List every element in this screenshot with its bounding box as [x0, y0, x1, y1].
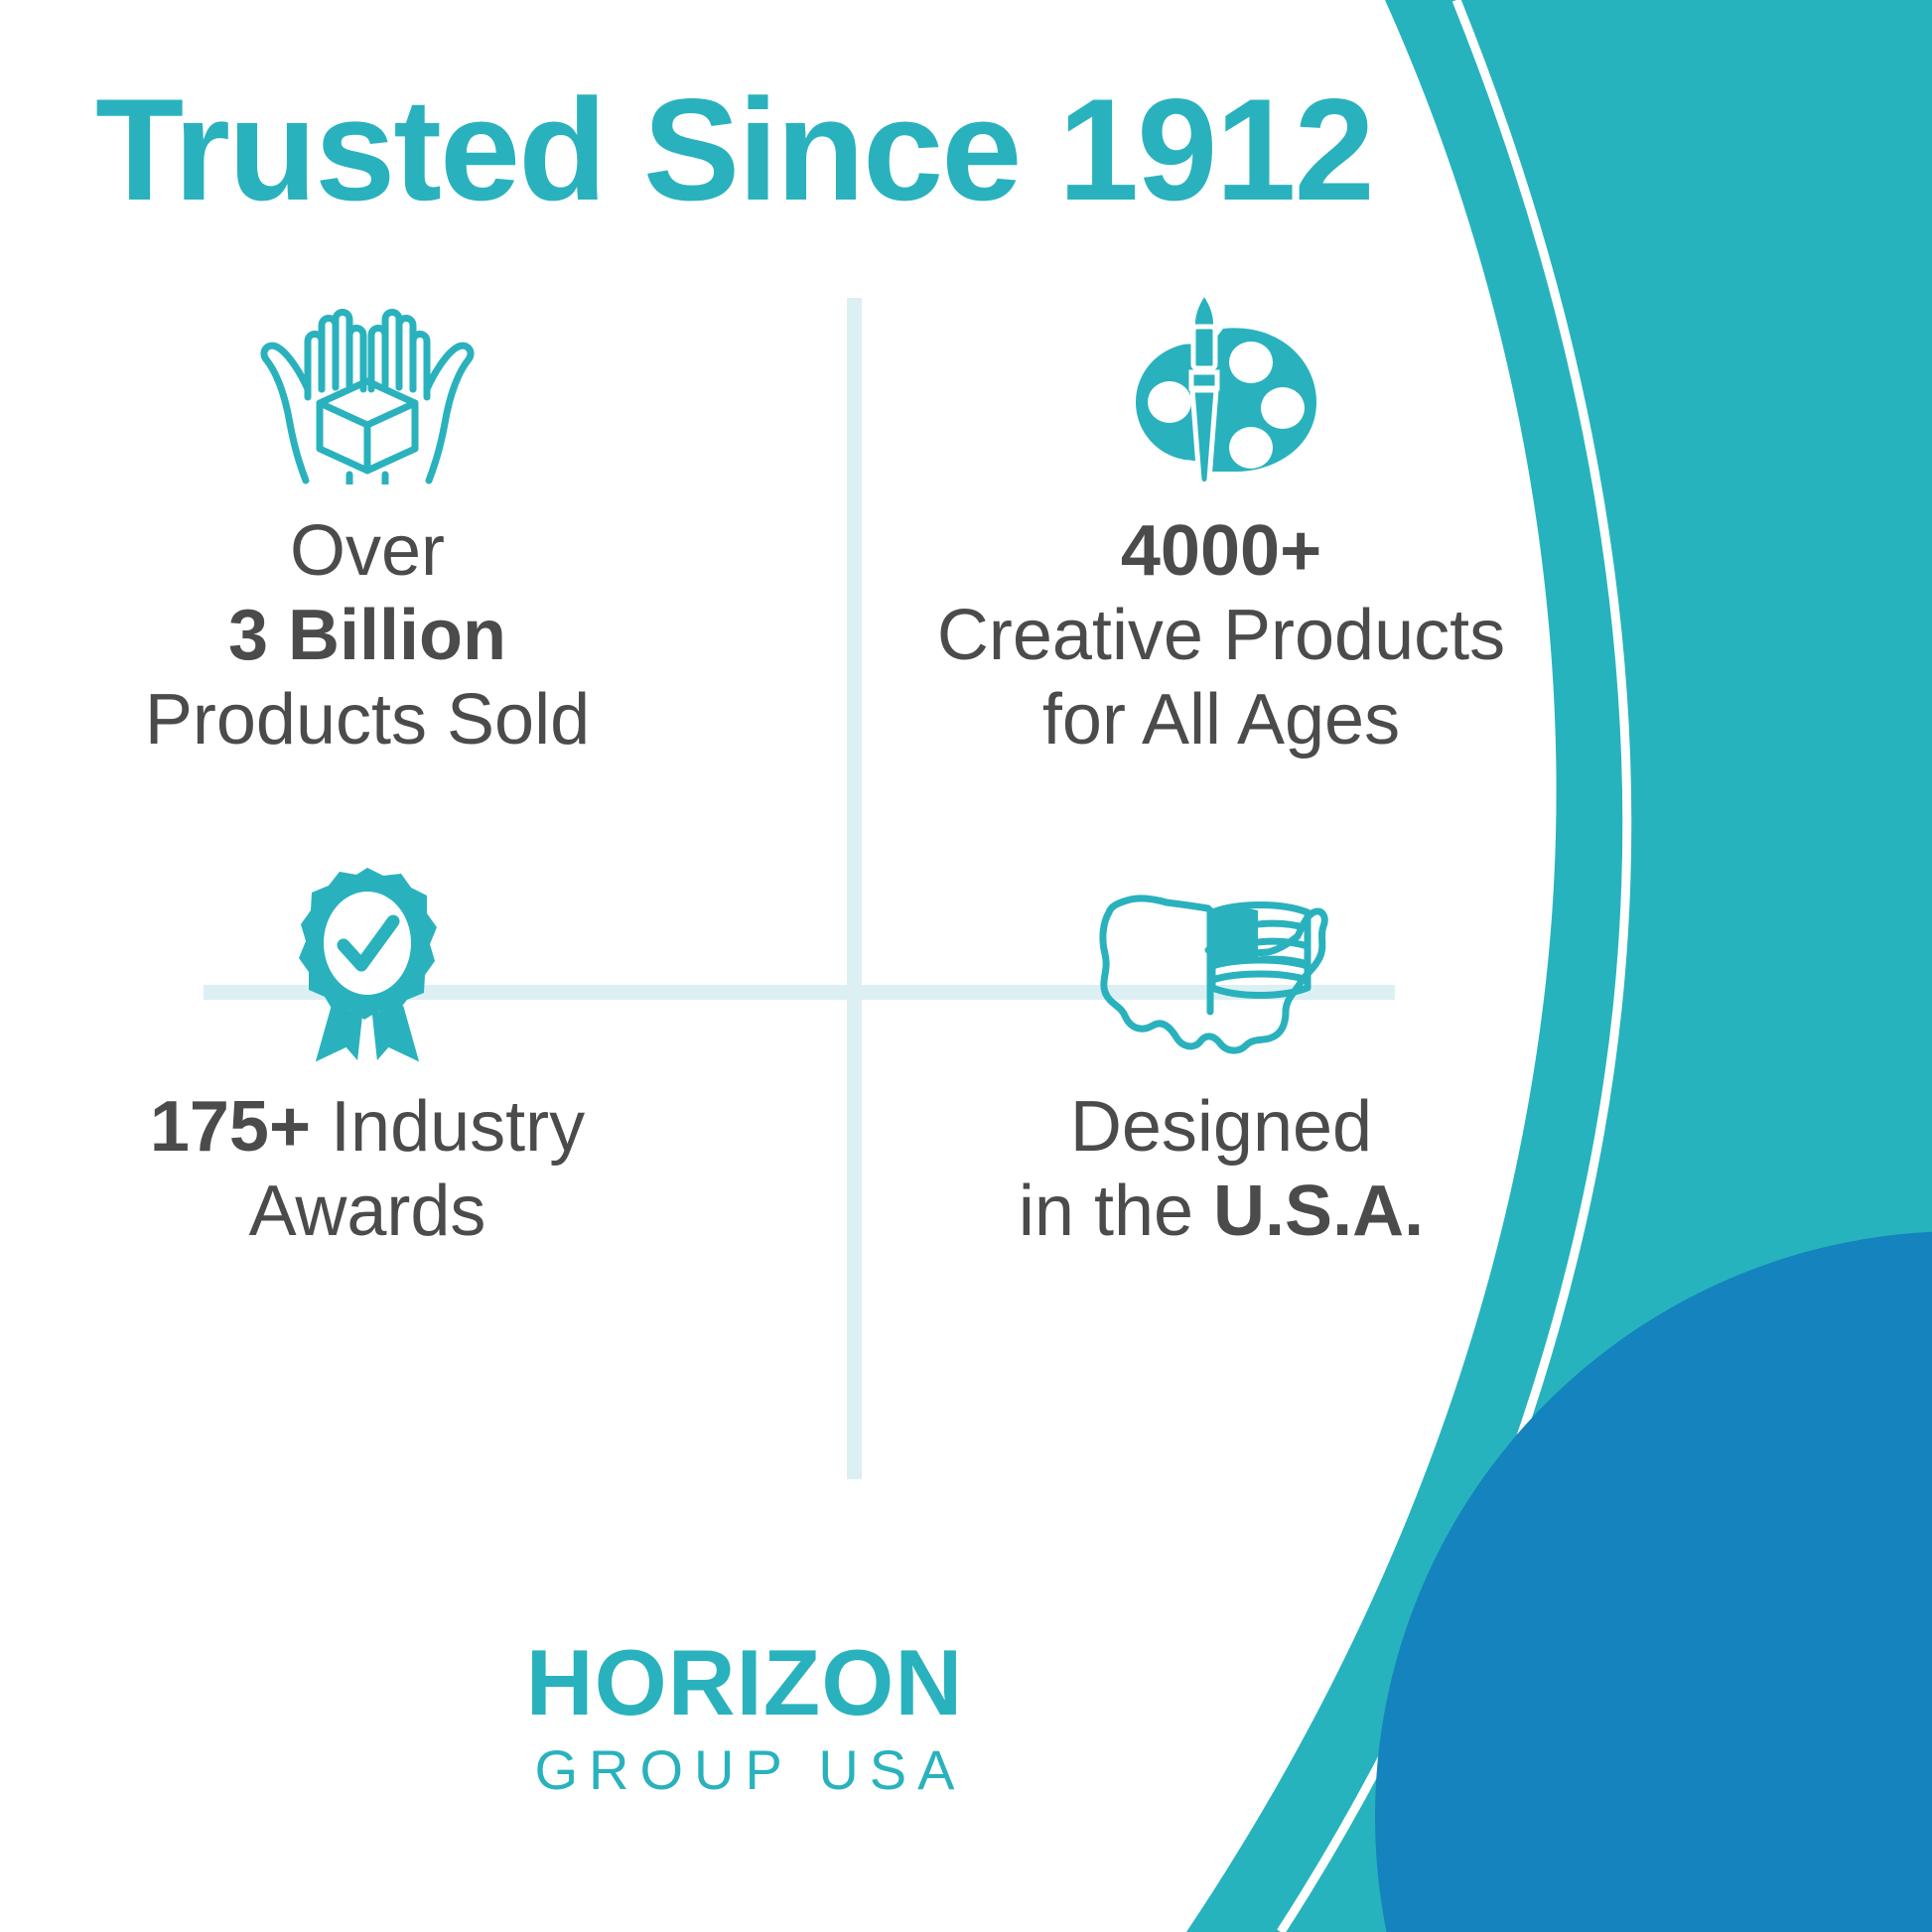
paint-well: [1148, 381, 1191, 423]
infographic-canvas: Trusted Since 1912: [0, 0, 1932, 1932]
award-ribbon-check-icon: [20, 864, 715, 1067]
flag-stripe: [1258, 923, 1308, 928]
stat-card-industry-awards: 175+ Industry Awards: [20, 864, 715, 1254]
stat-text-industry-awards: 175+ Industry Awards: [20, 1085, 715, 1254]
stat-line-2-prefix: in the: [1019, 1172, 1213, 1251]
usa-map-flag-icon: [874, 864, 1569, 1067]
stat-line-1: Over: [20, 509, 715, 594]
stat-card-creative-products: 4000+ Creative Products for All Ages: [874, 278, 1569, 762]
stat-line-3: Products Sold: [20, 678, 715, 762]
stat-card-products-sold: Over 3 Billion Products Sold: [20, 278, 715, 762]
logo-wordmark: HORIZON: [0, 1636, 1489, 1729]
badge-inner: [324, 892, 411, 995]
logo-subtitle: GROUP USA: [0, 1735, 1489, 1805]
brush-bristles: [1192, 293, 1215, 329]
stat-line-2: Creative Products: [874, 594, 1569, 678]
flag-canton: [1212, 907, 1258, 964]
brush-ferrule-top: [1193, 327, 1215, 368]
stat-line-2-bold: U.S.A.: [1213, 1172, 1424, 1251]
stat-number-suffix: Industry: [311, 1087, 585, 1167]
usa-map-top-edge: [1167, 902, 1208, 908]
stat-line-1: Designed: [874, 1085, 1569, 1170]
stat-line-1: 4000+: [874, 509, 1569, 594]
stat-line-2: 3 Billion: [20, 594, 715, 678]
brush-ferrule: [1191, 372, 1217, 388]
stat-line-1: 175+ Industry: [20, 1085, 715, 1170]
hands-holding-box-icon: [20, 278, 715, 491]
flag-stripe: [1212, 974, 1308, 980]
stat-text-designed-in-usa: Designed in the U.S.A.: [874, 1085, 1569, 1254]
paint-well: [1261, 387, 1305, 429]
divider-vertical: [847, 298, 862, 1479]
stat-line-2: in the U.S.A.: [874, 1170, 1569, 1254]
flag-stripe: [1212, 960, 1308, 966]
paint-palette-brush-icon: [874, 278, 1569, 491]
stat-line-2: Awards: [20, 1170, 715, 1254]
page-title: Trusted Since 1912: [95, 77, 1386, 222]
stat-text-creative-products: 4000+ Creative Products for All Ages: [874, 509, 1569, 762]
stat-text-products-sold: Over 3 Billion Products Sold: [20, 509, 715, 762]
paint-well: [1229, 342, 1273, 383]
stat-card-designed-in-usa: Designed in the U.S.A.: [874, 864, 1569, 1254]
stats-grid: Over 3 Billion Products Sold: [0, 278, 1479, 1499]
paint-well: [1229, 427, 1273, 469]
brand-logo: HORIZON GROUP USA: [0, 1636, 1489, 1805]
stat-number: 175+: [150, 1087, 311, 1167]
stat-line-3: for All Ages: [874, 678, 1569, 762]
